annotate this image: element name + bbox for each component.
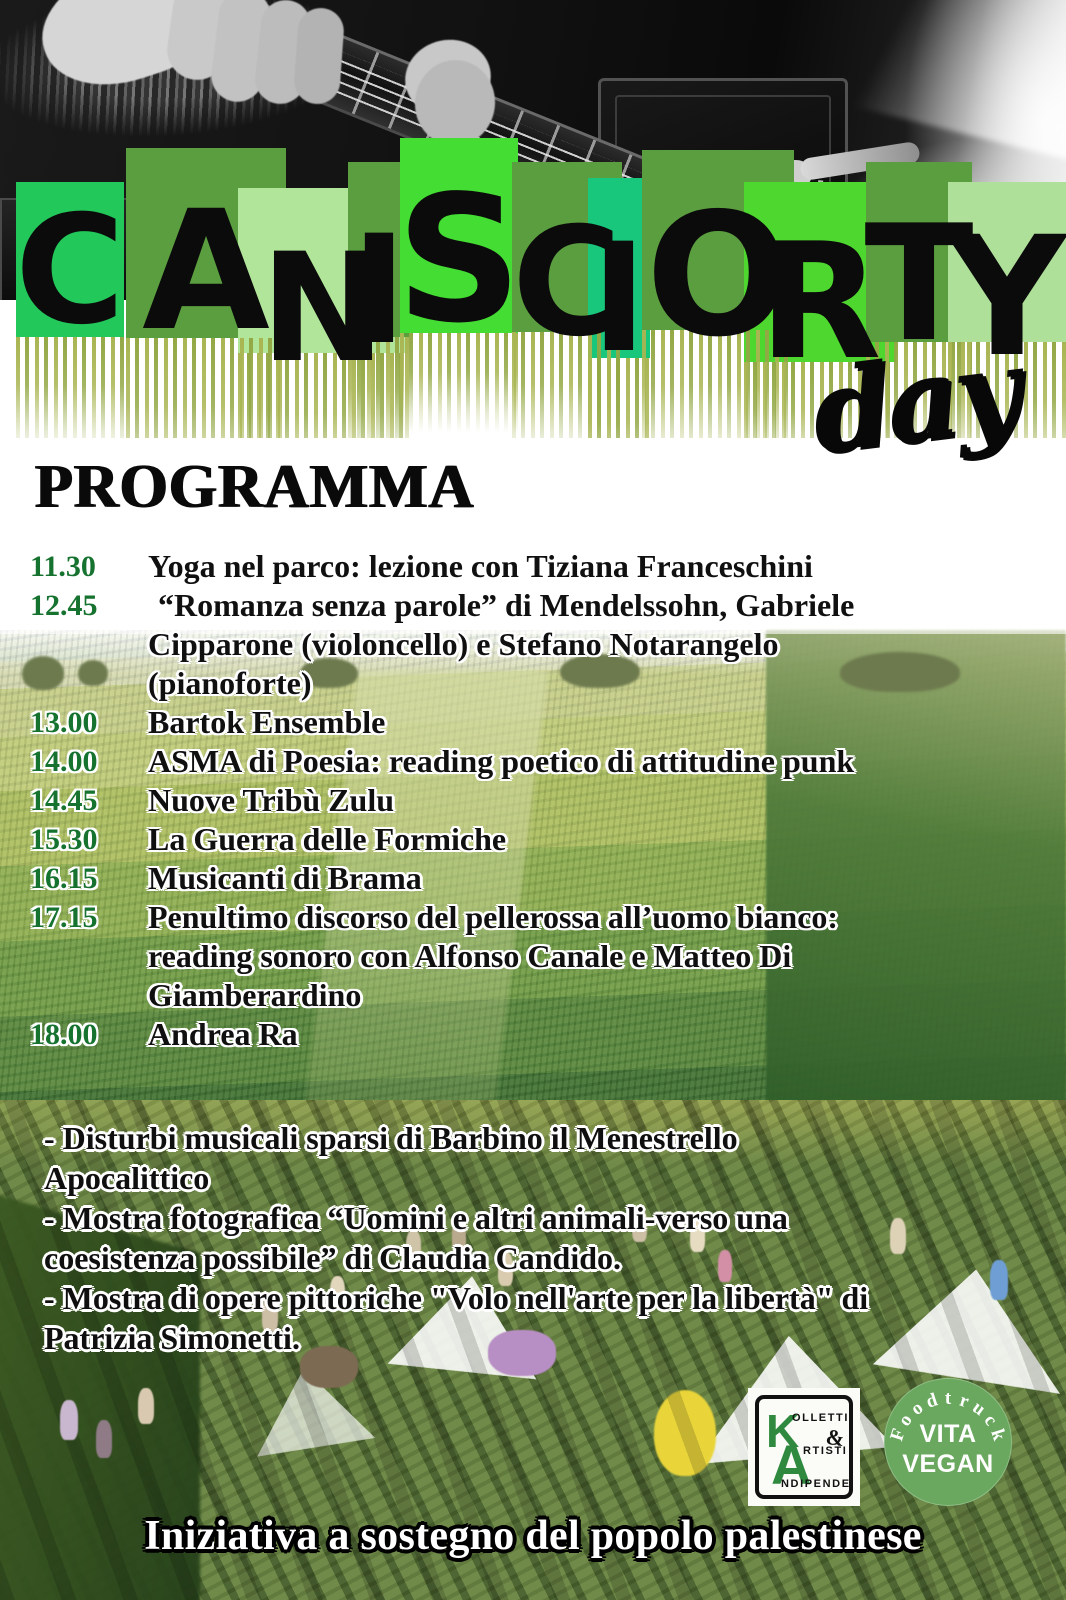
schedule-row: 13.00Bartok Ensemble — [30, 704, 1040, 741]
foodtruck-arc-char: r — [957, 1390, 972, 1414]
schedule-row: 16.15Musicanti di Brama — [30, 860, 1040, 897]
schedule-event: Cipparone (violoncello) e Stefano Notara… — [148, 626, 1040, 663]
schedule-event: Andrea Ra — [148, 1016, 1040, 1053]
schedule-event: La Guerra delle Formiche — [148, 821, 1040, 858]
schedule-row: Cipparone (violoncello) e Stefano Notara… — [30, 626, 1040, 663]
note-line: coesistenza possibile” di Claudia Candid… — [44, 1238, 1034, 1278]
note-line: Patrizia Simonetti. — [44, 1318, 1034, 1358]
schedule-row: reading sonoro con Alfonso Canale e Matt… — [30, 938, 1040, 975]
schedule-event: Musicanti di Brama — [148, 860, 1040, 897]
poster-content: PROGRAMMA 11.30Yoga nel parco: lezione c… — [0, 0, 1066, 1600]
schedule-row: 12.45“Romanza senza parole” di Mendelsso… — [30, 587, 1040, 624]
schedule-time: 17.15 — [30, 899, 148, 936]
foodtruck-arc-char: k — [985, 1427, 1009, 1444]
schedule-event: reading sonoro con Alfonso Canale e Matt… — [148, 938, 1040, 975]
schedule-time: 15.30 — [30, 821, 148, 858]
schedule-event: “Romanza senza parole” di Mendelssohn, G… — [148, 587, 1040, 624]
foodtruck-arc-char: d — [924, 1389, 941, 1413]
schedule-row: (pianoforte) — [30, 665, 1040, 702]
schedule-event: Bartok Ensemble — [148, 704, 1040, 741]
kai-word-ndipendenti: NDIPENDENTI — [781, 1478, 853, 1490]
title-subtitle-day: day — [805, 324, 1023, 479]
schedule-event: Giamberardino — [148, 977, 1040, 1014]
schedule-event: Penultimo discorso del pellerossa all’uo… — [148, 899, 1040, 936]
schedule-time: 16.15 — [30, 860, 148, 897]
schedule-time: 11.30 — [30, 548, 148, 585]
foodtruck-arc-char: t — [945, 1388, 951, 1410]
note-line: - Mostra di opere pittoriche "Volo nell'… — [44, 1278, 1034, 1318]
schedule-event: (pianoforte) — [148, 665, 1040, 702]
schedule-time: 13.00 — [30, 704, 148, 741]
schedule-row: 18.00Andrea Ra — [30, 1016, 1040, 1053]
schedule-event: Yoga nel parco: lezione con Tiziana Fran… — [148, 548, 1040, 585]
notes-list: - Disturbi musicali sparsi di Barbino il… — [44, 1118, 1034, 1358]
note-line: - Disturbi musicali sparsi di Barbino il… — [44, 1118, 1034, 1158]
note-line: Apocalittico — [44, 1158, 1034, 1198]
schedule-event: ASMA di Poesia: reading poetico di attit… — [148, 743, 1040, 780]
footer-statement: Iniziativa a sostegno del popolo palesti… — [0, 1512, 1066, 1560]
foodtruck-arc-label: Foodtruck — [884, 1387, 1012, 1515]
schedule-row: 14.00ASMA di Poesia: reading poetico di … — [30, 743, 1040, 780]
logo-kollettivo-artisti-indipendenti[interactable]: K A OLLETTIVO RTISTI NDIPENDENTI & — [748, 1388, 860, 1506]
schedule-row: Giamberardino — [30, 977, 1040, 1014]
logo-foodtruck-vita-vegan[interactable]: Foodtruck VITA VEGAN — [884, 1378, 1012, 1506]
schedule-time: 18.00 — [30, 1016, 148, 1053]
schedule-row: 17.15Penultimo discorso del pellerossa a… — [30, 899, 1040, 936]
note-line: - Mostra fotografica “Uomini e altri ani… — [44, 1198, 1034, 1238]
kai-word-ollettivo: OLLETTIVO — [792, 1412, 853, 1424]
schedule-list: 11.30Yoga nel parco: lezione con Tiziana… — [30, 548, 1040, 1055]
schedule-row: 14.45Nuove Tribù Zulu — [30, 782, 1040, 819]
kai-ampersand: & — [824, 1424, 846, 1452]
schedule-event: Nuove Tribù Zulu — [148, 782, 1040, 819]
schedule-row: 15.30La Guerra delle Formiche — [30, 821, 1040, 858]
page-title: PROGRAMMA — [34, 452, 473, 523]
poster-root: SVT-350 CANISCIORTY day — [0, 0, 1066, 1600]
schedule-time: 14.00 — [30, 743, 148, 780]
schedule-row: 11.30Yoga nel parco: lezione con Tiziana… — [30, 548, 1040, 585]
schedule-time: 14.45 — [30, 782, 148, 819]
foodtruck-arc-char: F — [886, 1426, 911, 1444]
kai-logo-frame: K A OLLETTIVO RTISTI NDIPENDENTI & — [755, 1395, 853, 1499]
schedule-time: 12.45 — [30, 587, 148, 624]
